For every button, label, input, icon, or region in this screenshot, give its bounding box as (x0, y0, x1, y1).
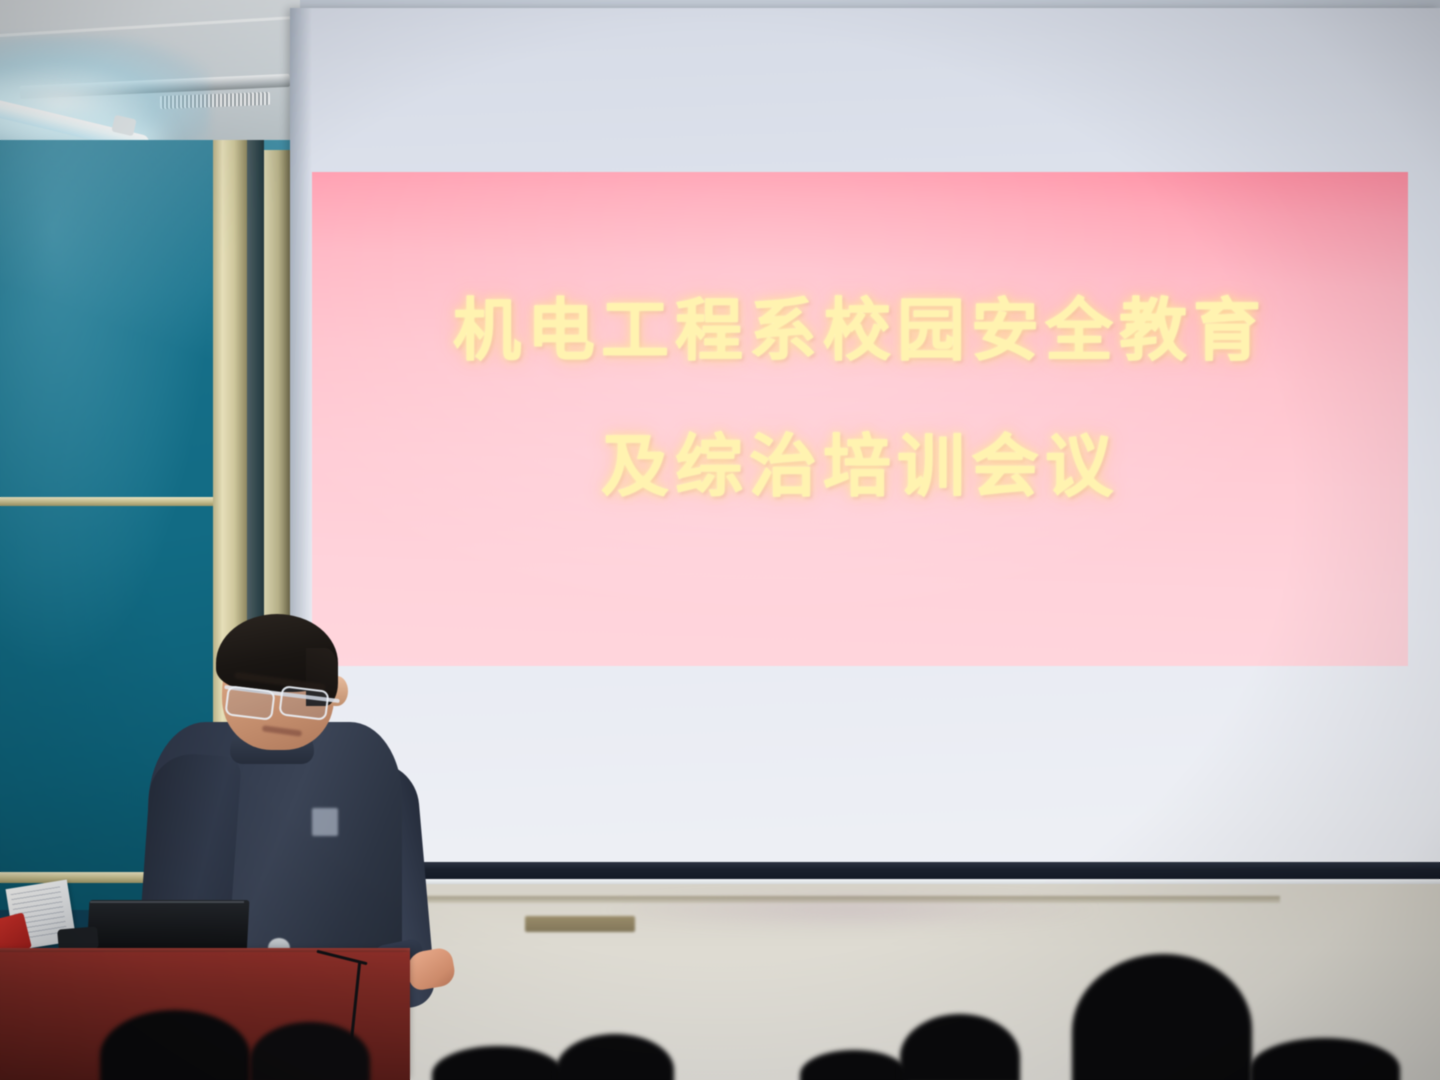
slide-title-line-1: 机电工程系校园安全教育 (453, 292, 1267, 371)
screen-bottom-bar (288, 862, 1440, 879)
slide-title-line-2: 及综治培训会议 (312, 400, 1408, 536)
screen-bar-highlight (288, 879, 1440, 884)
photo-scene: 机电工程系校园安全教育 及综治培训会议 (0, 0, 1440, 1080)
ceiling-seam (0, 16, 300, 37)
laptop-edge-highlight (90, 901, 244, 903)
jacket-chest-logo (312, 808, 338, 836)
slide-title: 机电工程系校园安全教育 及综治培训会议 (312, 264, 1408, 536)
glasses-lens-right (278, 685, 329, 721)
glasses-lens-left (224, 685, 275, 721)
chalk-tray-notch (525, 916, 635, 932)
whiteboard-lip (330, 896, 1280, 903)
presentation-slide: 机电工程系校园安全教育 及综治培训会议 (312, 172, 1408, 666)
